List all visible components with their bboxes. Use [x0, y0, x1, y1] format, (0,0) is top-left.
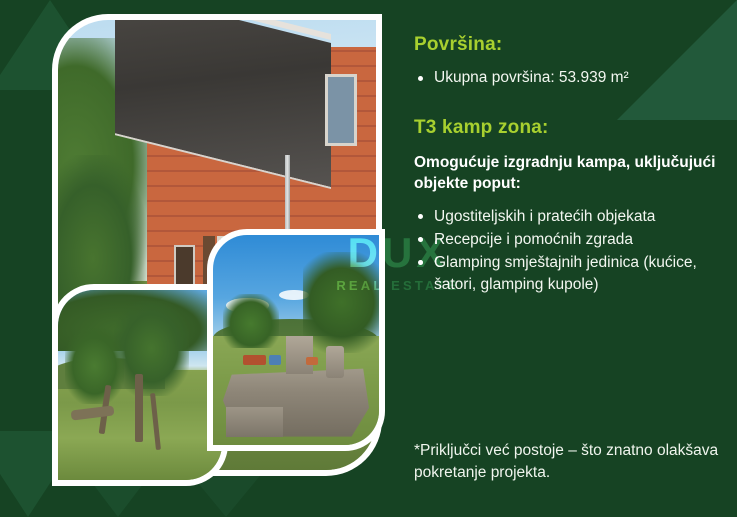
- concrete-steps: [226, 407, 282, 436]
- window-gable: [325, 74, 357, 146]
- tree-foliage-left: [223, 294, 279, 349]
- tree-foliage-secondary: [65, 328, 124, 404]
- section-surface: Površina: Ukupna površina: 53.939 m²: [414, 34, 724, 89]
- crate-orange: [243, 355, 266, 366]
- tree-trunk-main: [135, 374, 143, 442]
- stone-pillar-left: [286, 336, 313, 374]
- crate-terracotta: [306, 357, 318, 365]
- section-zone-subheading: Omogućuje izgradnju kampa, uključujući o…: [414, 152, 724, 195]
- list-item: Ukupna površina: 53.939 m²: [414, 67, 724, 89]
- crate-blue: [269, 355, 281, 366]
- stone-pillar-right: [326, 346, 344, 378]
- photo-stone-ruins: [213, 235, 379, 445]
- info-panel: Površina: Ukupna površina: 53.939 m² T3 …: [414, 34, 724, 297]
- list-item: Ugostiteljskih i pratećih objekata: [414, 206, 724, 228]
- inset-photo-frame-left[interactable]: [52, 284, 228, 486]
- photo-collage: [52, 14, 382, 486]
- tree-foliage-right: [303, 252, 379, 353]
- list-item: Recepcije i pomoćnih zgrada: [414, 229, 724, 251]
- zone-bullet-list: Ugostiteljskih i pratećih objekata Recep…: [414, 206, 724, 296]
- section-surface-heading: Površina:: [414, 34, 724, 56]
- surface-bullet-list: Ukupna površina: 53.939 m²: [414, 67, 724, 89]
- list-item: Glamping smještajnih jedinica (kućice, š…: [414, 252, 724, 296]
- tree-foliage-main: [114, 301, 189, 396]
- section-zone-heading: T3 kamp zona:: [414, 117, 724, 139]
- photo-orchard-meadow: [58, 290, 222, 480]
- inset-photo-frame-right[interactable]: [207, 229, 385, 451]
- footnote-text: *Priključci već postoje – što znatno ola…: [414, 440, 726, 484]
- section-zone: T3 kamp zona: Omogućuje izgradnju kampa,…: [414, 117, 724, 296]
